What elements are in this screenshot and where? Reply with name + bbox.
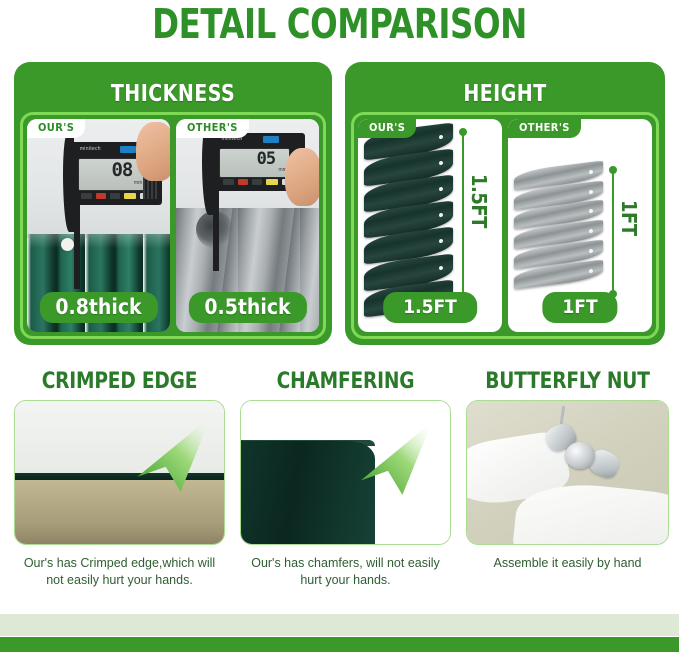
panel-height-body: 1.5FT OUR'S 1.5FT 1FT: [351, 112, 659, 339]
value-thickness-others: 0.5thick: [188, 292, 306, 323]
caliper-yellow-button: [266, 179, 278, 185]
panel-height: HEIGHT 1.5FT OUR'S: [345, 62, 665, 345]
caliper-reading: 05: [257, 149, 275, 169]
butterfly-nut-icon: [547, 421, 615, 490]
feature-chamfering: CHAMFERING Our's has chamfers: [240, 370, 451, 589]
feature-row: CRIMPED EDGE Our's has Crimp: [0, 370, 679, 600]
measure-label-ours: 1.5FT: [469, 174, 489, 228]
height-ours: 1.5FT OUR'S 1.5FT: [358, 119, 502, 332]
caliper-on-button: [110, 193, 120, 199]
comparison-panels: THICKNESS minitech 08 mm: [0, 62, 679, 345]
caliper-off-button: [81, 193, 92, 199]
footer-soft-band: [0, 614, 679, 636]
value-height-others: 1FT: [542, 292, 617, 323]
caliper-badge: [263, 136, 279, 143]
caliper-brand: minitech: [80, 146, 101, 152]
thickness-ours: minitech 08 mm: [27, 119, 170, 332]
feature-crimped-edge: CRIMPED EDGE Our's has Crimp: [14, 370, 225, 589]
digital-caliper-ours: minitech 08 mm: [47, 132, 164, 234]
down-arrow-icon: [350, 418, 442, 498]
feature-image-crimped-edge: [14, 400, 225, 545]
feature-caption: Our's has Crimped edge,which will not ea…: [14, 555, 225, 589]
feature-image-butterfly-nut: [466, 400, 669, 545]
caliper-unit: mm: [134, 180, 142, 186]
measure-label-others: 1FT: [619, 200, 639, 236]
value-thickness-ours: 0.8thick: [39, 292, 157, 323]
nut-hub: [565, 442, 595, 469]
panel-thickness-body: minitech 08 mm: [20, 112, 326, 339]
caliper-red-button: [238, 179, 248, 185]
feature-heading: CHAMFERING: [246, 370, 444, 394]
hand-thumb: [136, 122, 170, 181]
footer-green-bar: [0, 637, 679, 652]
feature-heading: CRIMPED EDGE: [20, 370, 218, 394]
badge-others: OTHER'S: [508, 119, 581, 138]
caliper-badge: [120, 146, 136, 153]
caliper-off-button: [223, 179, 234, 185]
badge-others: OTHER'S: [176, 119, 249, 138]
feature-image-chamfering: [240, 400, 451, 545]
feature-caption: Our's has chamfers, will not easily hurt…: [240, 555, 451, 589]
panel-height-title: HEIGHT: [358, 82, 652, 107]
caliper-yellow-button: [124, 193, 136, 199]
edging-stack-others: [514, 166, 603, 298]
badge-ours: OUR'S: [27, 119, 85, 138]
hand-thumb: [285, 148, 319, 206]
height-others: 1FT OTHER'S 1FT: [508, 119, 652, 332]
panel-thickness-title: THICKNESS: [27, 82, 320, 107]
caliper-reading: 08: [111, 159, 132, 181]
value-height-ours: 1.5FT: [383, 292, 477, 323]
edging-stack-ours: [364, 128, 453, 315]
caliper-red-button: [96, 193, 106, 199]
badge-ours: OUR'S: [358, 119, 416, 138]
measure-line-others: [612, 170, 614, 294]
page-title: DETAIL COMPARISON: [41, 2, 639, 46]
thickness-others: minitech 05 mm: [176, 119, 319, 332]
feature-butterfly-nut: BUTTERFLY NUT Assemble it easily by hand: [466, 370, 669, 572]
panel-thickness: THICKNESS minitech 08 mm: [14, 62, 332, 345]
feature-heading: BUTTERFLY NUT: [472, 370, 663, 394]
feature-caption: Assemble it easily by hand: [466, 555, 669, 572]
down-arrow-icon: [128, 412, 220, 495]
caliper-on-button: [252, 179, 262, 185]
